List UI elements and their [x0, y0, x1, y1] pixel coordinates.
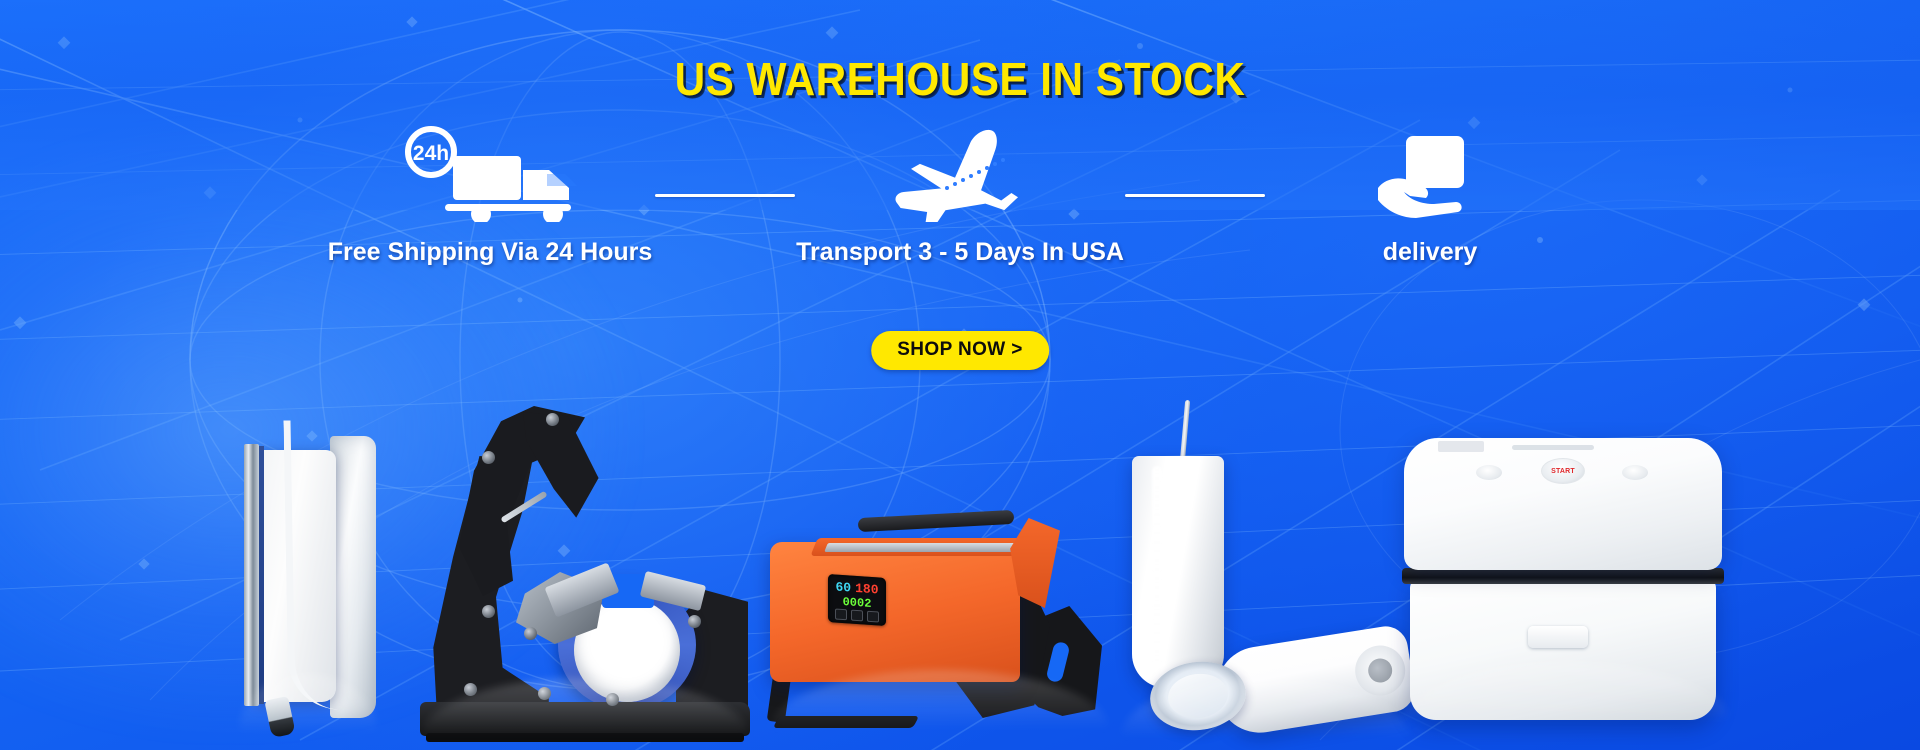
hand-package-delivery-icon [1370, 126, 1490, 222]
press-screw [482, 451, 495, 464]
oven-start-button[interactable]: START [1541, 458, 1585, 484]
display-button-mode[interactable] [835, 608, 847, 620]
plate-cable [283, 420, 340, 711]
oven-front-latch[interactable] [1528, 626, 1588, 648]
feature-label: delivery [1383, 238, 1478, 267]
product-mug-heating-element-plate[interactable] [238, 432, 378, 732]
product-orange-mug-heat-press[interactable]: 60 180 0002 [770, 498, 1110, 728]
display-current-temp: 60 [835, 579, 851, 595]
press-screw [688, 615, 701, 628]
feature-separator-1 [655, 194, 795, 197]
display-set-temp: 180 [855, 581, 878, 598]
oven-button-left[interactable] [1476, 465, 1502, 480]
feature-free-shipping: 24h Free Shipping Via 24 Hours [325, 126, 655, 267]
oven-button-right[interactable] [1622, 465, 1648, 480]
product-black-mug-heat-press[interactable] [420, 386, 750, 736]
feature-row: 24h Free Shipping Via 24 Hours [0, 126, 1920, 267]
oven-warning-label [1438, 441, 1484, 452]
plate-blue-strip [259, 446, 264, 704]
feature-separator-2 [1125, 194, 1265, 197]
feature-label: Free Shipping Via 24 Hours [328, 238, 653, 267]
page-title: US WAREHOUSE IN STOCK [77, 52, 1843, 106]
promo-banner: US WAREHOUSE IN STOCK 24h [0, 0, 1920, 750]
feature-transport: Transport 3 - 5 Days In USA [795, 126, 1125, 267]
product-white-sublimation-tumblers[interactable] [1120, 436, 1410, 736]
truck-24h-icon: 24h [395, 126, 585, 222]
product-showcase: 60 180 0002 [0, 320, 1920, 750]
press-screw [546, 413, 559, 426]
airplane-icon [875, 126, 1045, 222]
product-white-tumbler-heat-press-oven[interactable]: START [1400, 420, 1730, 720]
tumbler-standing [1132, 456, 1224, 688]
press-screw [482, 605, 495, 618]
display-button-up[interactable] [851, 610, 863, 622]
oven-start-label: START [1551, 468, 1575, 475]
oven-black-band [1402, 568, 1724, 584]
plate-metal-edge [244, 444, 259, 706]
orange-press-control-display[interactable]: 60 180 0002 [828, 574, 886, 626]
orange-press-body [770, 542, 1020, 682]
oven-lid-slot [1512, 445, 1594, 450]
feature-label: Transport 3 - 5 Days In USA [796, 238, 1124, 267]
display-button-down[interactable] [867, 611, 879, 623]
truck-badge-text: 24h [413, 142, 449, 165]
orange-press-handle-grip[interactable] [858, 510, 1015, 532]
feature-delivery: delivery [1265, 126, 1595, 267]
press-screw [524, 627, 537, 640]
orange-press-top-metal-plate [824, 543, 1018, 552]
